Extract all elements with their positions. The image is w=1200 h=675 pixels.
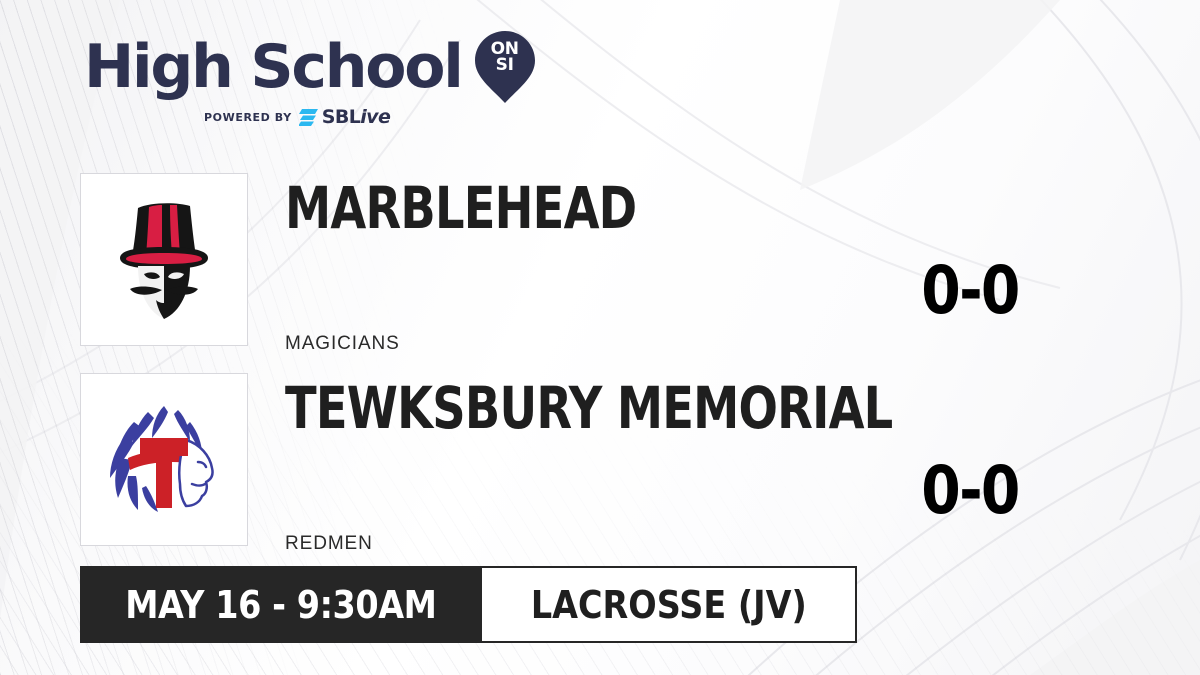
sblive-logo: SBLive (299, 108, 390, 127)
team-mascot: MAGICIANS (285, 333, 400, 355)
powered-by-sblive: POWERED BY SBLive (204, 108, 536, 127)
team-score: 0-0 (875, 258, 1064, 324)
marblehead-magicians-logo (108, 200, 220, 320)
wordmark-text: High School (84, 37, 462, 97)
team-logo-box (80, 373, 248, 546)
team-name: TEWKSBURY MEMORIAL (285, 379, 892, 437)
game-info-bar: MAY 16 - 9:30AM LACROSSE (JV) (80, 566, 857, 643)
team-score: 0-0 (875, 458, 1064, 524)
game-datetime-text: MAY 16 - 9:30AM (125, 586, 436, 624)
team-mascot: REDMEN (285, 533, 373, 555)
sblive-s-mark-icon (299, 108, 319, 127)
tewksbury-redmen-logo (102, 400, 226, 520)
matchup-graphic: High School ON SI POWERED BY SBLive (0, 0, 1200, 675)
high-school-on-si-logo: High School ON SI (84, 30, 536, 104)
game-sport-text: LACROSSE (JV) (531, 586, 807, 624)
powered-by-label: POWERED BY (204, 111, 292, 124)
game-datetime-block: MAY 16 - 9:30AM (80, 566, 482, 643)
team-name: MARBLEHEAD (285, 179, 636, 237)
game-sport-block: LACROSSE (JV) (482, 566, 858, 643)
badge-line-si: SI (474, 57, 536, 73)
on-si-badge-label: ON SI (474, 41, 536, 73)
brand-header: High School ON SI POWERED BY SBLive (84, 30, 536, 127)
on-si-pin-icon: ON SI (474, 30, 536, 104)
team-logo-box (80, 173, 248, 346)
sblive-ive: ive (360, 106, 390, 128)
sblive-wordmark: SBLive (322, 108, 390, 127)
sblive-sbl: SBL (322, 106, 360, 128)
